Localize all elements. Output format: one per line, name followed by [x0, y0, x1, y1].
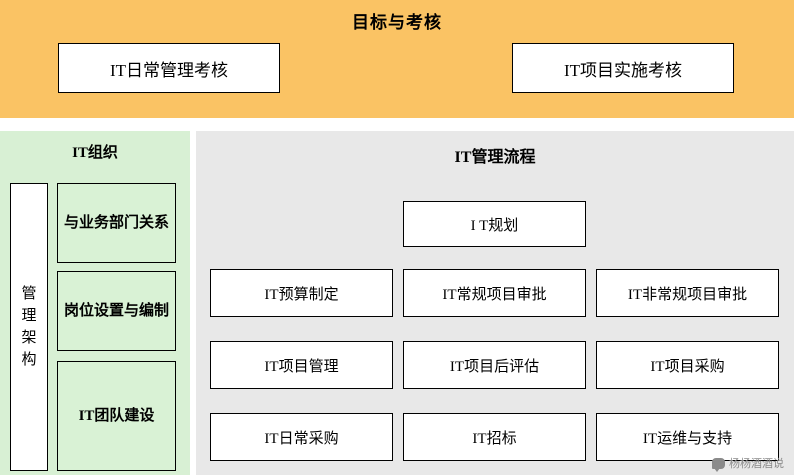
goal-box-daily-management[interactable]: IT日常管理考核	[58, 43, 280, 93]
goal-box-project-implementation[interactable]: IT项目实施考核	[512, 43, 734, 93]
process-box-project-procurement[interactable]: IT项目采购	[596, 341, 779, 389]
process-box-it-planning[interactable]: I T规划	[403, 201, 586, 247]
process-box-it-budget[interactable]: IT预算制定	[210, 269, 393, 317]
process-box-project-management[interactable]: IT项目管理	[210, 341, 393, 389]
org-box-business-relations[interactable]: 与业务部门关系	[57, 183, 176, 263]
goals-band-title: 目标与考核	[0, 8, 794, 33]
process-box-bidding[interactable]: IT招标	[403, 413, 586, 461]
it-management-process-title: IT管理流程	[196, 143, 794, 167]
it-organization-title: IT组织	[0, 141, 190, 162]
wechat-icon	[712, 458, 725, 469]
org-box-team-building[interactable]: IT团队建设	[57, 361, 176, 471]
goals-and-assessment-band: 目标与考核 IT日常管理考核 IT项目实施考核	[0, 0, 794, 118]
process-box-daily-procurement[interactable]: IT日常采购	[210, 413, 393, 461]
process-box-regular-project-approval[interactable]: IT常规项目审批	[403, 269, 586, 317]
process-box-post-project-evaluation[interactable]: IT项目后评估	[403, 341, 586, 389]
org-box-position-setup[interactable]: 岗位设置与编制	[57, 271, 176, 351]
management-architecture-label: 管理架构	[19, 283, 39, 371]
it-organization-panel: IT组织 管理架构 与业务部门关系 岗位设置与编制 IT团队建设	[0, 131, 190, 475]
management-architecture-box[interactable]: 管理架构	[10, 183, 48, 471]
diagram-page: 目标与考核 IT日常管理考核 IT项目实施考核 IT组织 管理架构 与业务部门关…	[0, 0, 794, 475]
watermark-text: 杨杨酒酒说	[729, 455, 784, 471]
process-box-operations-support[interactable]: IT运维与支持	[596, 413, 779, 461]
lower-area: IT组织 管理架构 与业务部门关系 岗位设置与编制 IT团队建设 IT管理流程 …	[0, 118, 794, 475]
it-management-process-panel: IT管理流程 I T规划 IT预算制定 IT常规项目审批 IT非常规项目审批 I…	[196, 131, 794, 475]
watermark: 杨杨酒酒说	[712, 455, 784, 471]
process-box-irregular-project-approval[interactable]: IT非常规项目审批	[596, 269, 779, 317]
